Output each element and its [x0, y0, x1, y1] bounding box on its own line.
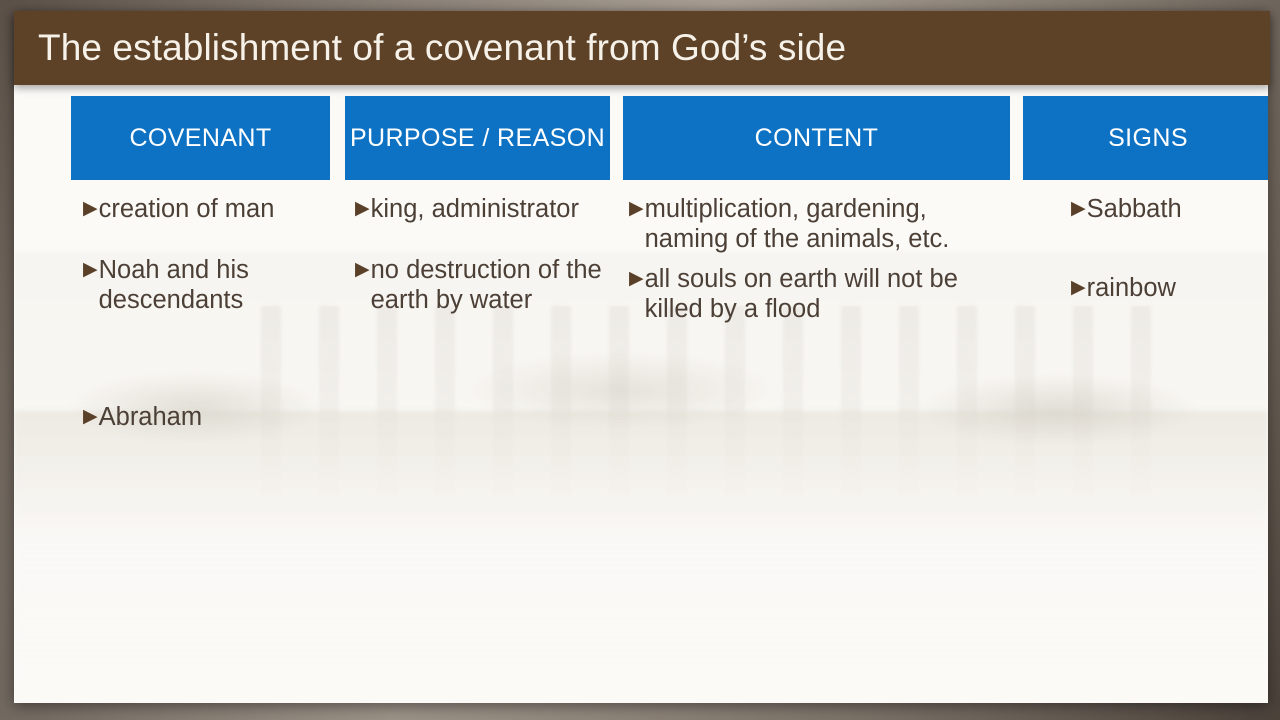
list-item-label: Sabbath: [1087, 194, 1268, 224]
column-header-label: CONTENT: [755, 124, 879, 153]
list-spacer: [83, 346, 326, 402]
list-item-label: all souls on earth will not be killed by…: [645, 264, 1006, 324]
triangle-bullet-icon: ▶: [355, 255, 370, 284]
list-item: ▶ creation of man: [83, 194, 326, 224]
triangle-bullet-icon: ▶: [355, 194, 370, 223]
column-header-content: CONTENT: [623, 96, 1010, 180]
list-item-label: multiplication, gardening, naming of the…: [645, 194, 1006, 254]
column-header-label: SIGNS: [1108, 124, 1188, 153]
column-body-covenant: ▶ creation of man ▶ Noah and his descend…: [71, 180, 330, 432]
list-item: ▶ rainbow: [1071, 273, 1268, 303]
column-header-covenant: COVENANT: [71, 96, 330, 180]
list-item: ▶ Noah and his descendants: [83, 255, 326, 315]
column-body-signs: ▶ Sabbath ▶ rainbow: [1023, 180, 1268, 303]
column-header-label: PURPOSE / REASON: [350, 124, 605, 153]
covenant-table: COVENANT ▶ creation of man ▶ Noah and hi…: [14, 96, 1268, 703]
page-title: The establishment of a covenant from God…: [38, 27, 846, 69]
table-column-content: CONTENT ▶ multiplication, gardening, nam…: [623, 96, 1010, 334]
table-column-signs: SIGNS ▶ Sabbath ▶ rainbow: [1023, 96, 1268, 352]
list-item-label: Abraham: [99, 402, 326, 432]
column-header-signs: SIGNS: [1023, 96, 1268, 180]
slide-title-bar: The establishment of a covenant from God…: [14, 11, 1270, 85]
column-body-content: ▶ multiplication, gardening, naming of t…: [623, 180, 1010, 324]
column-body-purpose: ▶ king, administrator ▶ no destruction o…: [345, 180, 610, 315]
slide-frame: COVENANT ▶ creation of man ▶ Noah and hi…: [0, 0, 1280, 720]
triangle-bullet-icon: ▶: [629, 194, 644, 223]
list-item: ▶ Sabbath: [1071, 194, 1268, 224]
triangle-bullet-icon: ▶: [83, 402, 98, 431]
list-item-label: creation of man: [99, 194, 326, 224]
column-header-purpose: PURPOSE / REASON: [345, 96, 610, 180]
triangle-bullet-icon: ▶: [83, 194, 98, 223]
list-item-label: Noah and his descendants: [99, 255, 326, 315]
triangle-bullet-icon: ▶: [1071, 194, 1086, 223]
slide-canvas: COVENANT ▶ creation of man ▶ Noah and hi…: [14, 11, 1268, 703]
triangle-bullet-icon: ▶: [1071, 273, 1086, 302]
triangle-bullet-icon: ▶: [83, 255, 98, 284]
list-item: ▶ no destruction of the earth by water: [355, 255, 606, 315]
table-column-purpose: PURPOSE / REASON ▶ king, administrator ▶…: [345, 96, 610, 346]
table-column-covenant: COVENANT ▶ creation of man ▶ Noah and hi…: [71, 96, 330, 463]
list-item: ▶ all souls on earth will not be killed …: [629, 264, 1006, 324]
list-item: ▶ multiplication, gardening, naming of t…: [629, 194, 1006, 254]
triangle-bullet-icon: ▶: [629, 264, 644, 293]
column-header-label: COVENANT: [129, 124, 271, 153]
list-item: ▶ Abraham: [83, 402, 326, 432]
list-item-label: king, administrator: [371, 194, 606, 224]
list-item-label: no destruction of the earth by water: [371, 255, 606, 315]
list-item: ▶ king, administrator: [355, 194, 606, 224]
list-item-label: rainbow: [1087, 273, 1268, 303]
